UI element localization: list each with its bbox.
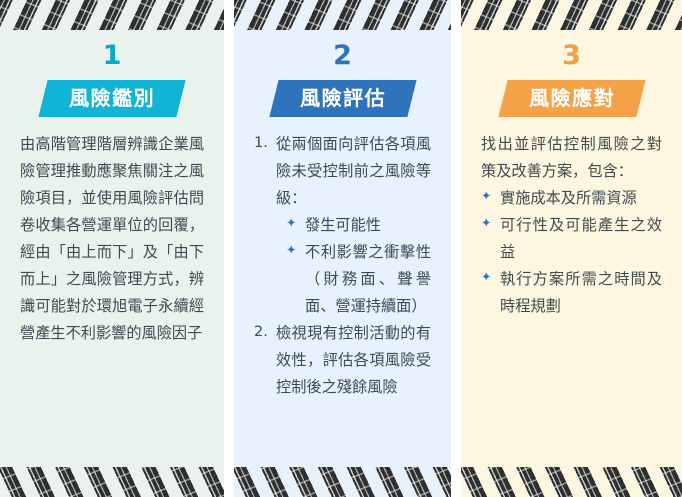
- list-item-text: 實施成本及所需資源: [500, 189, 637, 207]
- step-badge-2-label: 風險評估: [300, 88, 386, 108]
- list-item: 實施成本及所需資源: [481, 185, 662, 212]
- step-number-2: 2: [333, 42, 352, 69]
- step-badge-1: 風險鑑別: [38, 80, 185, 117]
- risk-step-panel-1: 1 風險鑑別 由高階管理階層辨識企業風險管理推動應聚焦關注之風險項目，並使用風險…: [0, 0, 224, 497]
- hazard-tape-icon: [0, 467, 224, 497]
- hazard-tape-icon: [234, 0, 451, 30]
- step-badge-1-label: 風險鑑別: [69, 88, 155, 108]
- list-item-text: 不利影響之衝擊性（財務面、聲譽面、營運持續面）: [305, 243, 431, 315]
- list-item: 從兩個面向評估各項風險未受控制前之風險等級： 發生可能性 不利影響之衝擊性（財務…: [254, 131, 431, 320]
- list-item: 執行方案所需之時間及時程規劃: [481, 266, 662, 320]
- panel-2-sublist-1: 發生可能性 不利影響之衝擊性（財務面、聲譽面、營運持續面）: [276, 212, 431, 320]
- hazard-tape-icon: [0, 0, 224, 30]
- hazard-tape-icon: [234, 467, 451, 497]
- step-badge-2: 風險評估: [269, 80, 416, 117]
- panel-2-content: 從兩個面向評估各項風險未受控制前之風險等級： 發生可能性 不利影響之衝擊性（財務…: [234, 117, 451, 401]
- step-number-1: 1: [103, 42, 122, 69]
- list-item: 不利影響之衝擊性（財務面、聲譽面、營運持續面）: [286, 239, 431, 320]
- panel-2-body: 2 風險評估 從兩個面向評估各項風險未受控制前之風險等級： 發生可能性 不利影響…: [234, 30, 451, 467]
- panel-3-bullet-list: 實施成本及所需資源 可行性及可能產生之效益 執行方案所需之時間及時程規劃: [481, 185, 662, 320]
- panel-1-content: 由高階管理階層辨識企業風險管理推動應聚焦關注之風險項目，並使用風險評估問卷收集各…: [0, 117, 224, 347]
- panel-3-content: 找出並評估控制風險之對策及改善方案，包含： 實施成本及所需資源 可行性及可能產生…: [461, 117, 682, 320]
- step-badge-3-label: 風險應對: [529, 88, 615, 108]
- list-item: 可行性及可能產生之效益: [481, 212, 662, 266]
- hazard-tape-icon: [461, 467, 682, 497]
- hazard-tape-icon: [461, 0, 682, 30]
- list-item-text: 發生可能性: [305, 216, 381, 234]
- step-number-3: 3: [562, 42, 581, 69]
- list-item: 檢視現有控制活動的有效性，評估各項風險受控制後之殘餘風險: [254, 320, 431, 401]
- risk-step-panel-2: 2 風險評估 從兩個面向評估各項風險未受控制前之風險等級： 發生可能性 不利影響…: [234, 0, 451, 497]
- risk-process-board: 1 風險鑑別 由高階管理階層辨識企業風險管理推動應聚焦關注之風險項目，並使用風險…: [0, 0, 682, 497]
- panel-2-numbered-list: 從兩個面向評估各項風險未受控制前之風險等級： 發生可能性 不利影響之衝擊性（財務…: [254, 131, 431, 401]
- panel-1-body: 1 風險鑑別 由高階管理階層辨識企業風險管理推動應聚焦關注之風險項目，並使用風險…: [0, 30, 224, 467]
- panel-1-paragraph: 由高階管理階層辨識企業風險管理推動應聚焦關注之風險項目，並使用風險評估問卷收集各…: [20, 131, 204, 347]
- list-item: 發生可能性: [286, 212, 431, 239]
- risk-step-panel-3: 3 風險應對 找出並評估控制風險之對策及改善方案，包含： 實施成本及所需資源 可…: [461, 0, 682, 497]
- panel-3-body: 3 風險應對 找出並評估控制風險之對策及改善方案，包含： 實施成本及所需資源 可…: [461, 30, 682, 467]
- list-item-text: 從兩個面向評估各項風險未受控制前之風險等級：: [276, 135, 431, 207]
- step-badge-3: 風險應對: [498, 80, 645, 117]
- list-item-text: 執行方案所需之時間及時程規劃: [500, 270, 662, 315]
- list-item-text: 檢視現有控制活動的有效性，評估各項風險受控制後之殘餘風險: [276, 324, 431, 396]
- list-item-text: 可行性及可能產生之效益: [500, 216, 662, 261]
- panel-3-lead: 找出並評估控制風險之對策及改善方案，包含：: [481, 131, 662, 185]
